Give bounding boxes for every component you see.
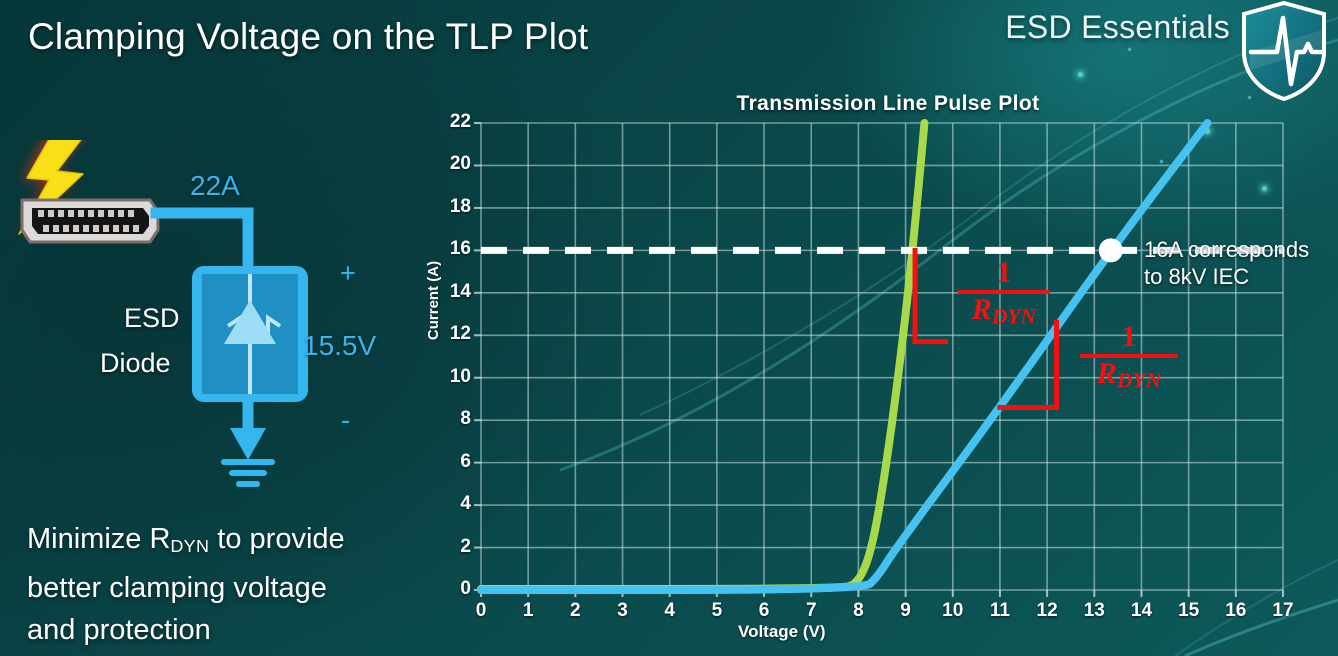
ground-symbol-icon (224, 462, 272, 484)
shield-pulse-icon (1236, 0, 1332, 102)
slope-1-denominator: RDYN (958, 295, 1050, 328)
polarity-minus-label: - (341, 405, 350, 436)
slope-1-numerator: 1 (958, 258, 1050, 288)
brand-label: ESD Essentials (1005, 9, 1230, 46)
device-label-line2: Diode (100, 348, 171, 379)
caption-line1-b: to provide (209, 523, 344, 555)
caption-line3: and protection (27, 614, 211, 646)
device-label-line1: ESD (124, 303, 180, 334)
marker-note-line1: 16A corresponds (1144, 237, 1309, 262)
polarity-plus-label: + (340, 258, 356, 289)
marker-annotation: 16A corresponds to 8kV IEC (1144, 236, 1309, 290)
caption-line1-sub: DYN (170, 523, 209, 555)
marker-note-line2: to 8kV IEC (1144, 264, 1249, 289)
spark (1128, 48, 1131, 51)
esd-diode-package (192, 266, 308, 402)
hdmi-connector-icon (22, 200, 158, 242)
slope-annotation-2: 1 RDYN (1080, 322, 1178, 392)
slope-triangle-1 (915, 250, 946, 341)
summary-caption: Minimize RDYN to provide better clamping… (27, 518, 427, 651)
caption-line1-a: Minimize R (27, 523, 170, 555)
tlp-chart: Transmission Line Pulse Plot Current (A)… (408, 92, 1338, 656)
current-arrow-icon (230, 428, 266, 460)
caption-line2: better clamping voltage (27, 572, 327, 604)
fraction-bar (1080, 354, 1178, 358)
spark (1078, 72, 1083, 77)
clamp-voltage-label: 15.5V (303, 330, 376, 362)
marker-point-16a (1099, 238, 1123, 262)
slope-2-denominator: RDYN (1080, 359, 1178, 392)
plot-canvas (408, 92, 1338, 656)
current-label: 22A (190, 170, 240, 202)
circuit-wires (156, 213, 248, 266)
slope-2-numerator: 1 (1080, 322, 1178, 352)
slope-annotation-1: 1 RDYN (958, 258, 1050, 328)
page-title: Clamping Voltage on the TLP Plot (28, 16, 588, 58)
